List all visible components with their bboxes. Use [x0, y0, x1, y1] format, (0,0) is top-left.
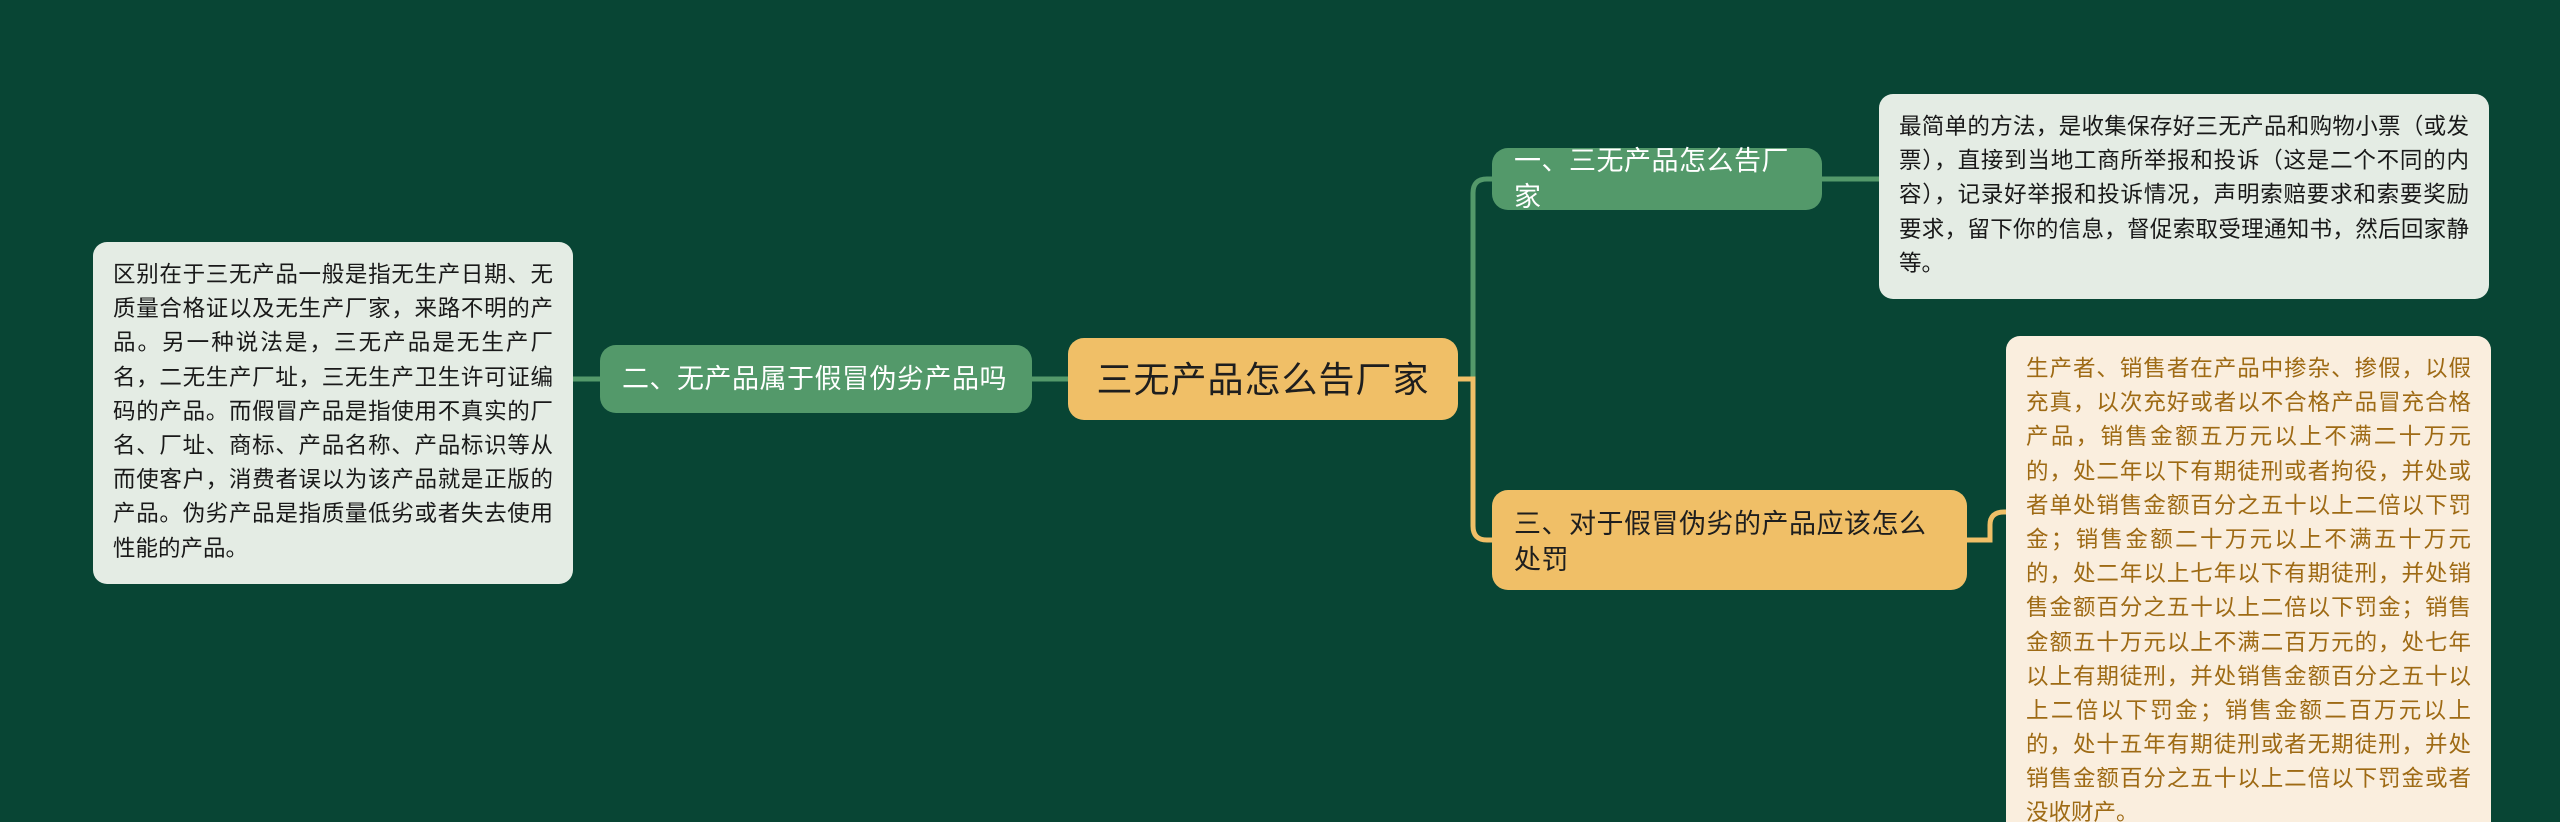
branch-node-1-label: 一、三无产品怎么告厂家 [1514, 143, 1800, 216]
leaf-card-2-text: 区别在于三无产品一般是指无生产日期、无质量合格证以及无生产厂家，来路不明的产品。… [113, 258, 553, 566]
branch-node-2-label: 二、无产品属于假冒伪劣产品吗 [622, 361, 1007, 397]
leaf-card-3[interactable]: 生产者、销售者在产品中掺杂、掺假，以假充真，以次充好或者以不合格产品冒充合格产品… [2006, 336, 2491, 822]
branch-node-1[interactable]: 一、三无产品怎么告厂家 [1492, 148, 1822, 210]
leaf-card-2[interactable]: 区别在于三无产品一般是指无生产日期、无质量合格证以及无生产厂家，来路不明的产品。… [93, 242, 573, 584]
branch-node-3-label: 三、对于假冒伪劣的产品应该怎么处罚 [1514, 506, 1945, 579]
leaf-card-1[interactable]: 最简单的方法，是收集保存好三无产品和购物小票（或发票），直接到当地工商所举报和投… [1879, 94, 2489, 299]
mindmap-canvas: 三无产品怎么告厂家 一、三无产品怎么告厂家 最简单的方法，是收集保存好三无产品和… [0, 0, 2560, 822]
connector-central-to-branch-1 [1458, 179, 1492, 379]
branch-node-2[interactable]: 二、无产品属于假冒伪劣产品吗 [600, 345, 1032, 413]
connector-central-to-branch-3 [1458, 379, 1492, 540]
leaf-card-1-text: 最简单的方法，是收集保存好三无产品和购物小票（或发票），直接到当地工商所举报和投… [1899, 110, 2469, 281]
leaf-card-3-text: 生产者、销售者在产品中掺杂、掺假，以假充真，以次充好或者以不合格产品冒充合格产品… [2026, 352, 2471, 822]
central-topic-label: 三无产品怎么告厂家 [1096, 357, 1429, 402]
central-topic-node[interactable]: 三无产品怎么告厂家 [1068, 338, 1458, 420]
branch-node-3[interactable]: 三、对于假冒伪劣的产品应该怎么处罚 [1492, 490, 1967, 590]
connector-branch-3-to-leaf-3 [1967, 512, 2006, 540]
